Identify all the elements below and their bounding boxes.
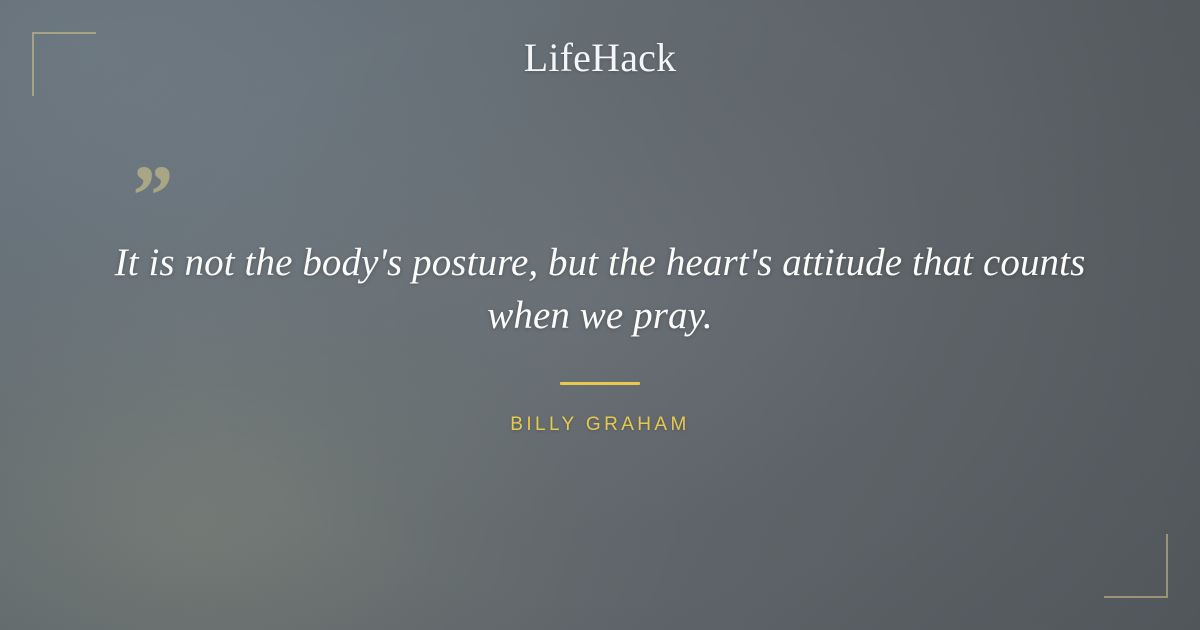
brand-logo-lifehack: LifeHack xyxy=(0,38,1200,78)
quote-block: It is not the body's posture, but the he… xyxy=(110,236,1090,342)
quote-text: It is not the body's posture, but the he… xyxy=(110,236,1090,342)
quotation-mark-icon: ” xyxy=(128,152,171,238)
author-name: BILLY GRAHAM xyxy=(0,414,1200,436)
card-content: LifeHack ” It is not the body's posture,… xyxy=(0,0,1200,630)
quote-card: LifeHack ” It is not the body's posture,… xyxy=(0,0,1200,630)
author-divider xyxy=(560,382,640,385)
